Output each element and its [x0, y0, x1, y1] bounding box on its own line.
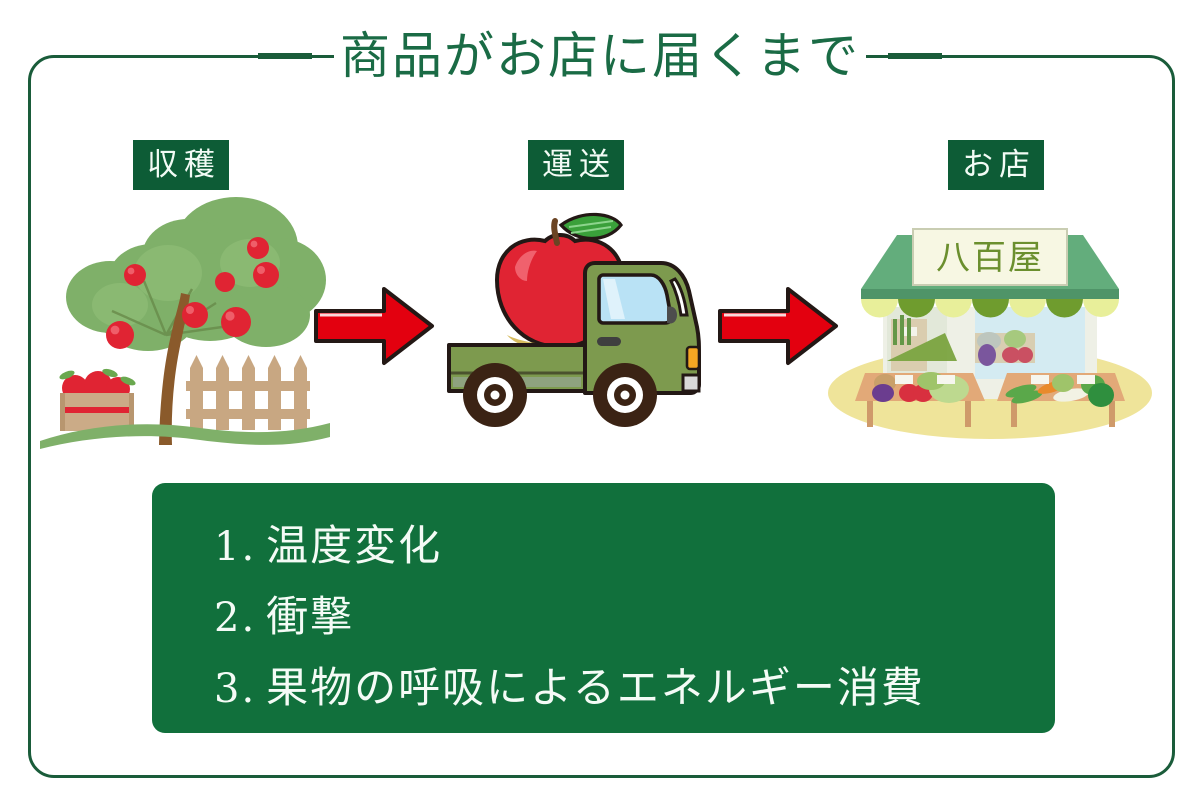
- list-item-label: 温度変化: [266, 511, 442, 581]
- list-item-number: 3.: [214, 654, 256, 724]
- list-item: 2. 衝撃: [214, 582, 1055, 653]
- factors-list-box: 1. 温度変化 2. 衝撃 3. 果物の呼吸によるエネルギー消費: [152, 483, 1055, 733]
- page-title: 商品がお店に届くまで: [334, 31, 866, 81]
- stage-label-transport: 運送: [528, 140, 624, 190]
- list-item-number: 1.: [214, 512, 256, 582]
- list-item: 1. 温度変化: [214, 511, 1055, 582]
- stage-label-harvest: 収穫: [133, 140, 229, 190]
- title-row: 商品がお店に届くまで: [0, 20, 1200, 92]
- list-item-number: 2.: [214, 583, 256, 653]
- greengrocer-storefront-icon: 八百屋: [825, 215, 1155, 445]
- stage-label-store: お店: [948, 140, 1044, 190]
- apple-on-truck-icon: [435, 195, 725, 445]
- title-dash-left: [258, 53, 312, 59]
- list-item: 3. 果物の呼吸によるエネルギー消費: [214, 653, 1055, 724]
- shop-sign-text: 八百屋: [936, 238, 1044, 278]
- apple-tree-orchard-icon: [40, 185, 330, 450]
- title-dash-right: [888, 53, 942, 59]
- right-arrow-icon: [716, 283, 840, 369]
- list-item-label: 果物の呼吸によるエネルギー消費: [266, 653, 925, 723]
- list-item-label: 衝撃: [266, 582, 354, 652]
- right-arrow-icon: [312, 283, 436, 369]
